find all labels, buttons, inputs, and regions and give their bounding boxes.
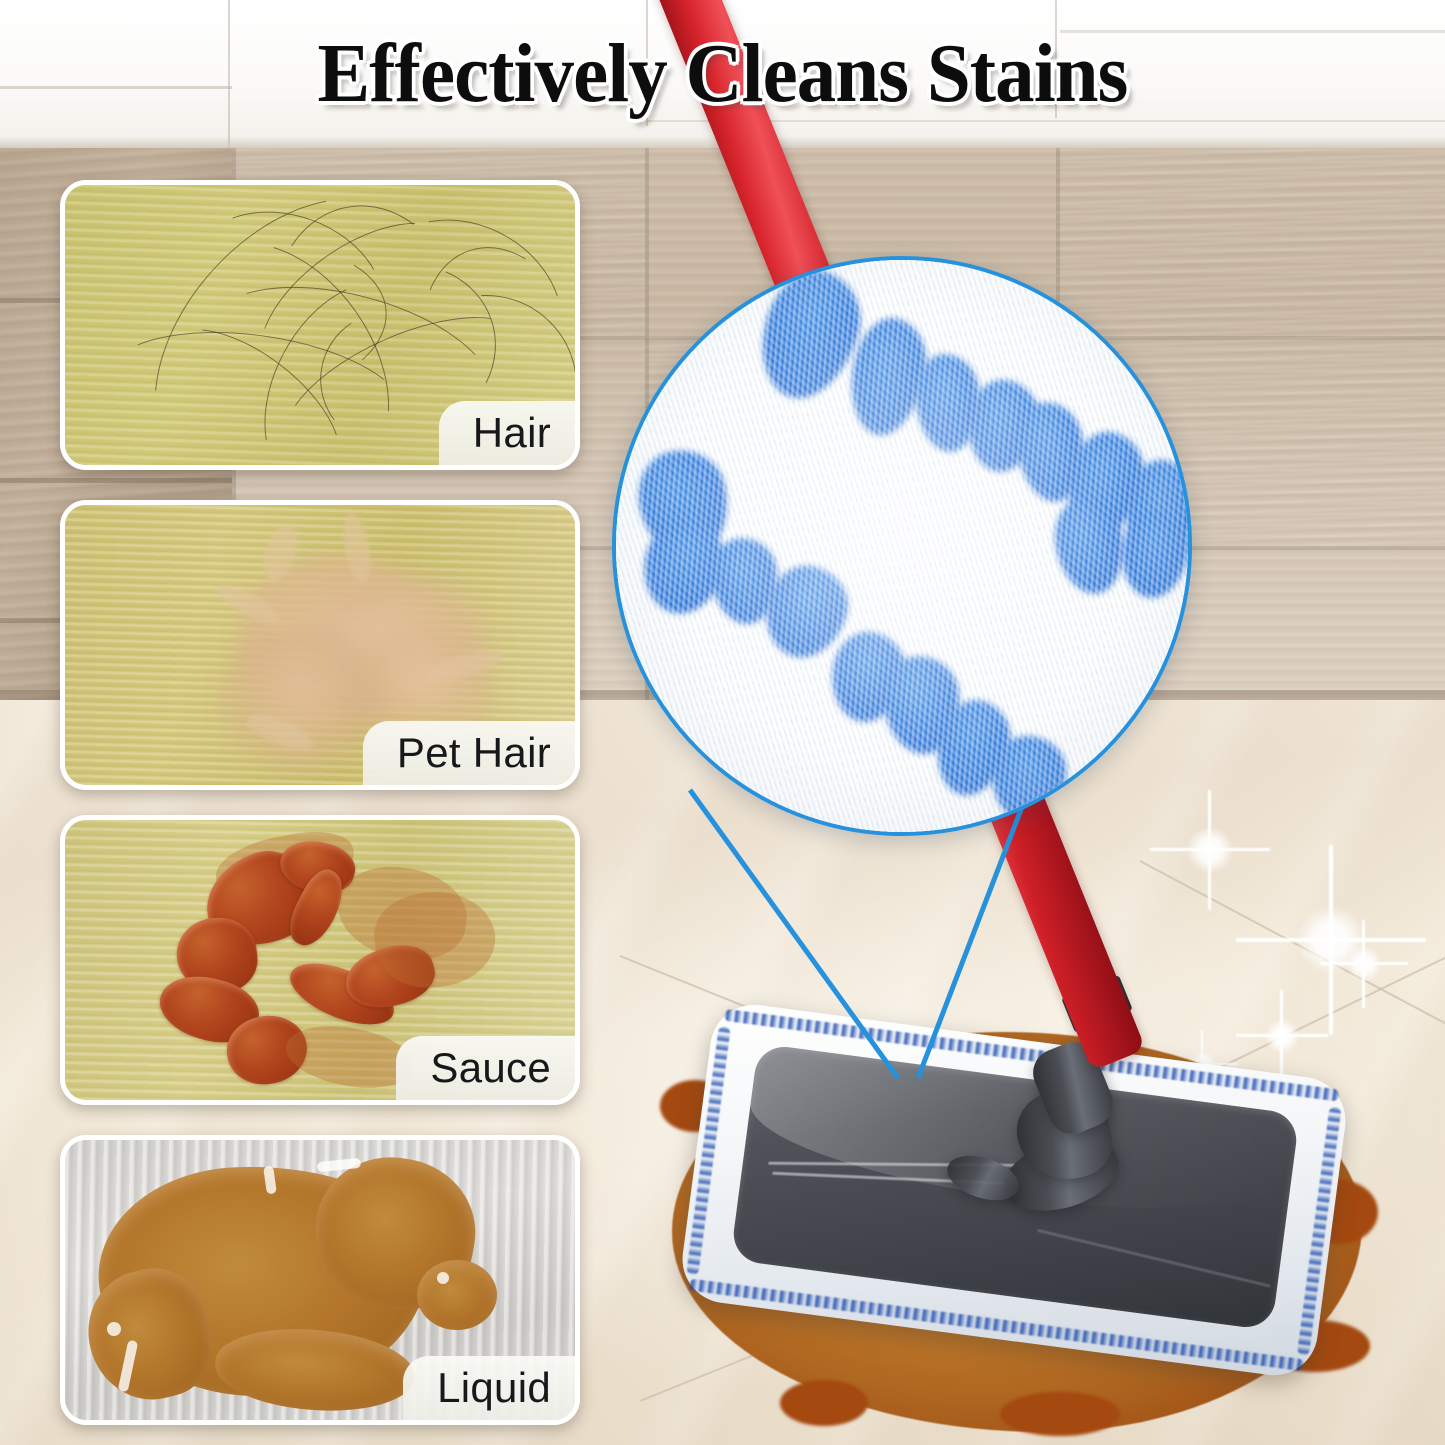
magnifier-circle [612,256,1192,836]
stain-card-label: Sauce [396,1036,577,1102]
stain-card-label: Hair [439,401,577,467]
stain-card-sauce[interactable]: Sauce [60,815,580,1105]
cabinet-seam [0,478,232,483]
stain-card-liquid[interactable]: Liquid [60,1135,580,1425]
page-title: Effectively Cleans Stains [43,30,1401,118]
floor-stain-edge [780,1380,868,1426]
stain-card-label: Pet Hair [363,721,577,787]
product-marketing-image: Effectively Cleans Stains Hair [0,0,1445,1445]
magnifier-vignette [616,260,1188,832]
stain-card-label: Liquid [403,1356,577,1422]
plate-rib [1037,1229,1271,1288]
floor-stain-edge [1000,1392,1120,1436]
stain-card-pet-hair[interactable]: Pet Hair [60,500,580,790]
stain-card-hair[interactable]: Hair [60,180,580,470]
